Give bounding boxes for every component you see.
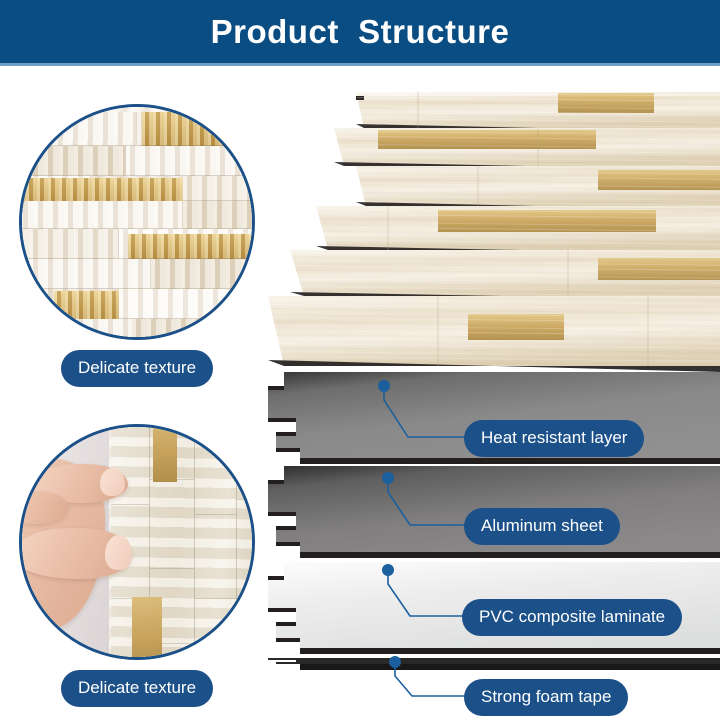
callout-label-aluminum-sheet: Aluminum sheet	[464, 508, 620, 545]
callout-aluminum-sheet: Aluminum sheet	[464, 508, 620, 545]
feature-label-delicate-texture-tile: Delicate texture	[61, 350, 213, 387]
callout-strong-foam-tape: Strong foam tape	[464, 679, 628, 716]
header-divider	[0, 63, 720, 66]
thumb-nail	[105, 535, 133, 570]
feature-circle-delicate-texture-hand: Delicate texture	[12, 424, 262, 707]
circle-caption-wrap-2: Delicate texture	[12, 670, 262, 707]
tile-surface-layer	[268, 92, 720, 372]
feature-label-delicate-texture-hand: Delicate texture	[61, 670, 213, 707]
wall-panel	[109, 424, 255, 660]
callout-heat-resistant-layer: Heat resistant layer	[464, 420, 644, 457]
circle-caption-wrap: Delicate texture	[12, 350, 262, 387]
feature-circle-delicate-texture-tile: Delicate texture	[12, 104, 262, 387]
strong-foam-tape-slab	[268, 658, 720, 670]
callout-label-pvc-composite-laminate: PVC composite laminate	[462, 599, 682, 636]
index-fingernail	[100, 468, 125, 496]
callout-pvc-composite-laminate: PVC composite laminate	[462, 599, 682, 636]
hand-holding-panel-photo	[19, 424, 255, 660]
tile-texture-photo	[19, 104, 255, 340]
callout-label-heat-resistant-layer: Heat resistant layer	[464, 420, 644, 457]
page-title: Product Structure	[211, 13, 510, 51]
product-structure-infographic: Product Structure	[0, 0, 720, 720]
hand-scene	[22, 427, 252, 657]
page-header: Product Structure	[0, 0, 720, 63]
callout-label-strong-foam-tape: Strong foam tape	[464, 679, 628, 716]
